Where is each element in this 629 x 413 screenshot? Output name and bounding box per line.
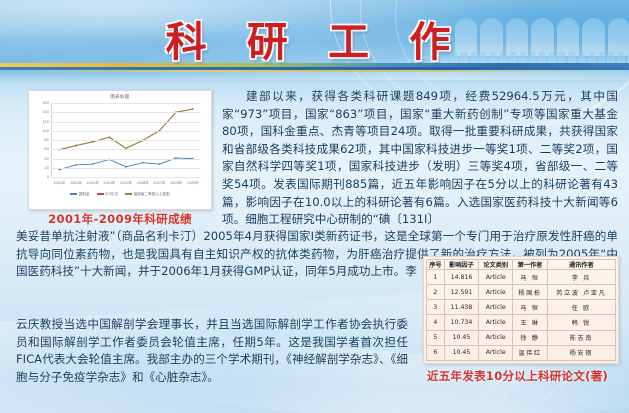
papers-table-caption: 近五年发表10分以上科研论文(著) bbox=[410, 368, 625, 384]
cell-impact-factor: 11.438 bbox=[444, 300, 478, 315]
chart-gridline bbox=[51, 122, 201, 123]
cell-corresponding-author: 任 欧 bbox=[547, 300, 615, 315]
chart-y-tick-label: 60 bbox=[44, 147, 49, 151]
cell-impact-factor: 14.816 bbox=[444, 270, 478, 285]
cell-first-author: 马 恒 bbox=[513, 300, 547, 315]
papers-table-card: 序号 影响因子 论文类别 第一作者 通讯作者 114.816Article马 恒… bbox=[423, 256, 619, 364]
chart-gridline bbox=[51, 159, 201, 160]
cell-paper-type: Article bbox=[479, 270, 513, 285]
legend-swatch bbox=[125, 193, 132, 194]
cell-corresponding-author: 陈志南 bbox=[547, 330, 615, 345]
chart-y-tick-label: 80 bbox=[44, 138, 49, 142]
cell-paper-type: Article bbox=[479, 330, 513, 345]
cell-paper-type: Article bbox=[479, 285, 513, 300]
legend-label: SCI论文 bbox=[105, 192, 118, 196]
cell-impact-factor: 12.591 bbox=[444, 285, 478, 300]
col-paper-type: 论文类别 bbox=[479, 260, 513, 270]
cell-index: 5 bbox=[427, 330, 445, 345]
chart-gridline bbox=[51, 103, 201, 104]
chart-gridline bbox=[51, 149, 201, 150]
chart-legend-item: SCI论文 bbox=[97, 192, 119, 197]
chart-x-tick-label: 2003年 bbox=[87, 180, 99, 185]
chart-x-tick-label: 2005年 bbox=[120, 180, 132, 185]
chart-x-tick-label: 2004年 bbox=[103, 180, 115, 185]
chart-gridline bbox=[51, 168, 201, 169]
legend-swatch bbox=[97, 193, 104, 194]
chart-caption: 2001年-2009年科研成绩 bbox=[22, 211, 218, 227]
cell-index: 4 bbox=[427, 315, 445, 330]
chart-y-tick-label: 120 bbox=[42, 120, 49, 124]
chart-y-tick-label: 0 bbox=[47, 175, 49, 179]
legend-label: 省部级二等奖以上奖励 bbox=[134, 192, 170, 196]
chart-legend-item: 省部级二等奖以上奖励 bbox=[125, 192, 169, 197]
chart-plot-area: 0204060801001201401602001年2002年2003年2004… bbox=[51, 103, 201, 177]
cell-first-author: 杨国栋 bbox=[513, 285, 547, 300]
chart-x-tick-label: 2002年 bbox=[70, 180, 82, 185]
chart-y-tick-label: 140 bbox=[42, 110, 49, 114]
cell-first-author: 王 琳 bbox=[513, 315, 547, 330]
paragraph-academic-leadership: 云庆教授当选中国解剖学会理事长，并且当选国际解剖学工作者协会执行委员和国际解剖学… bbox=[16, 316, 408, 386]
table-row: 510.45Article徐 静陈志南 bbox=[427, 330, 616, 345]
cell-paper-type: Article bbox=[479, 315, 513, 330]
poster-canvas: 科 研 工 作 图表标题 0204060801001201401602001年2… bbox=[0, 0, 629, 413]
cell-corresponding-author: 韩 锐 bbox=[547, 315, 615, 330]
cell-impact-factor: 10.734 bbox=[444, 315, 478, 330]
chart-gridline bbox=[51, 177, 201, 178]
chart-y-tick-label: 40 bbox=[44, 157, 49, 161]
table-row: 410.734Article王 琳韩 锐 bbox=[427, 315, 616, 330]
cell-paper-type: Article bbox=[479, 300, 513, 315]
cell-first-author: 马 恒 bbox=[513, 270, 547, 285]
cell-corresponding-author: 芮立波 卢亚凡 bbox=[547, 285, 615, 300]
paragraph-research-overview: 建部以来，获得各类科研课题849项，经费52964.5万元，其中国家“973”项… bbox=[222, 88, 618, 229]
table-header-row: 序号 影响因子 论文类别 第一作者 通讯作者 bbox=[427, 260, 616, 270]
cell-corresponding-author: 李 兵 bbox=[547, 270, 615, 285]
chart-y-tick-label: 160 bbox=[42, 101, 49, 105]
chart-gridline bbox=[51, 140, 201, 141]
chart-x-tick-label: 2001年 bbox=[53, 180, 65, 185]
cell-first-author: 徐 静 bbox=[513, 330, 547, 345]
chart-gridline bbox=[51, 131, 201, 132]
legend-label: 国科金 bbox=[79, 192, 90, 196]
chart-y-tick-label: 100 bbox=[42, 129, 49, 133]
cell-paper-type: Article bbox=[479, 345, 513, 360]
chart-x-tick-label: 2007年 bbox=[153, 180, 165, 185]
chart-title: 图表标题 bbox=[29, 94, 211, 100]
chart-y-tick-label: 20 bbox=[44, 166, 49, 170]
cell-impact-factor: 10.45 bbox=[444, 330, 478, 345]
cell-index: 2 bbox=[427, 285, 445, 300]
col-corresponding-author: 通讯作者 bbox=[547, 260, 615, 270]
cell-index: 6 bbox=[427, 345, 445, 360]
col-index: 序号 bbox=[427, 260, 445, 270]
chart-x-tick-label: 2009年 bbox=[187, 180, 199, 185]
cell-corresponding-author: 杨安钢 bbox=[547, 345, 615, 360]
table-row: 610.45Article温伟红杨安钢 bbox=[427, 345, 616, 360]
cell-impact-factor: 10.45 bbox=[444, 345, 478, 360]
table-row: 114.816Article马 恒李 兵 bbox=[427, 270, 616, 285]
page-title: 科 研 工 作 bbox=[0, 8, 629, 68]
papers-table: 序号 影响因子 论文类别 第一作者 通讯作者 114.816Article马 恒… bbox=[426, 259, 616, 361]
table-row: 212.591Article杨国栋芮立波 卢亚凡 bbox=[427, 285, 616, 300]
chart-x-tick-label: 2008年 bbox=[170, 180, 182, 185]
col-impact-factor: 影响因子 bbox=[444, 260, 478, 270]
chart-legend-item: 国科金 bbox=[70, 192, 89, 197]
legend-swatch bbox=[70, 193, 77, 194]
divider-band-highlight bbox=[0, 70, 629, 72]
cell-first-author: 温伟红 bbox=[513, 345, 547, 360]
research-achievements-chart: 图表标题 0204060801001201401602001年2002年2003… bbox=[28, 90, 212, 210]
chart-legend: 国科金SCI论文省部级二等奖以上奖励 bbox=[29, 192, 211, 197]
chart-x-tick-label: 2006年 bbox=[137, 180, 149, 185]
chart-gridline bbox=[51, 112, 201, 113]
cell-index: 3 bbox=[427, 300, 445, 315]
table-row: 311.438Article马 恒任 欧 bbox=[427, 300, 616, 315]
cell-index: 1 bbox=[427, 270, 445, 285]
col-first-author: 第一作者 bbox=[513, 260, 547, 270]
